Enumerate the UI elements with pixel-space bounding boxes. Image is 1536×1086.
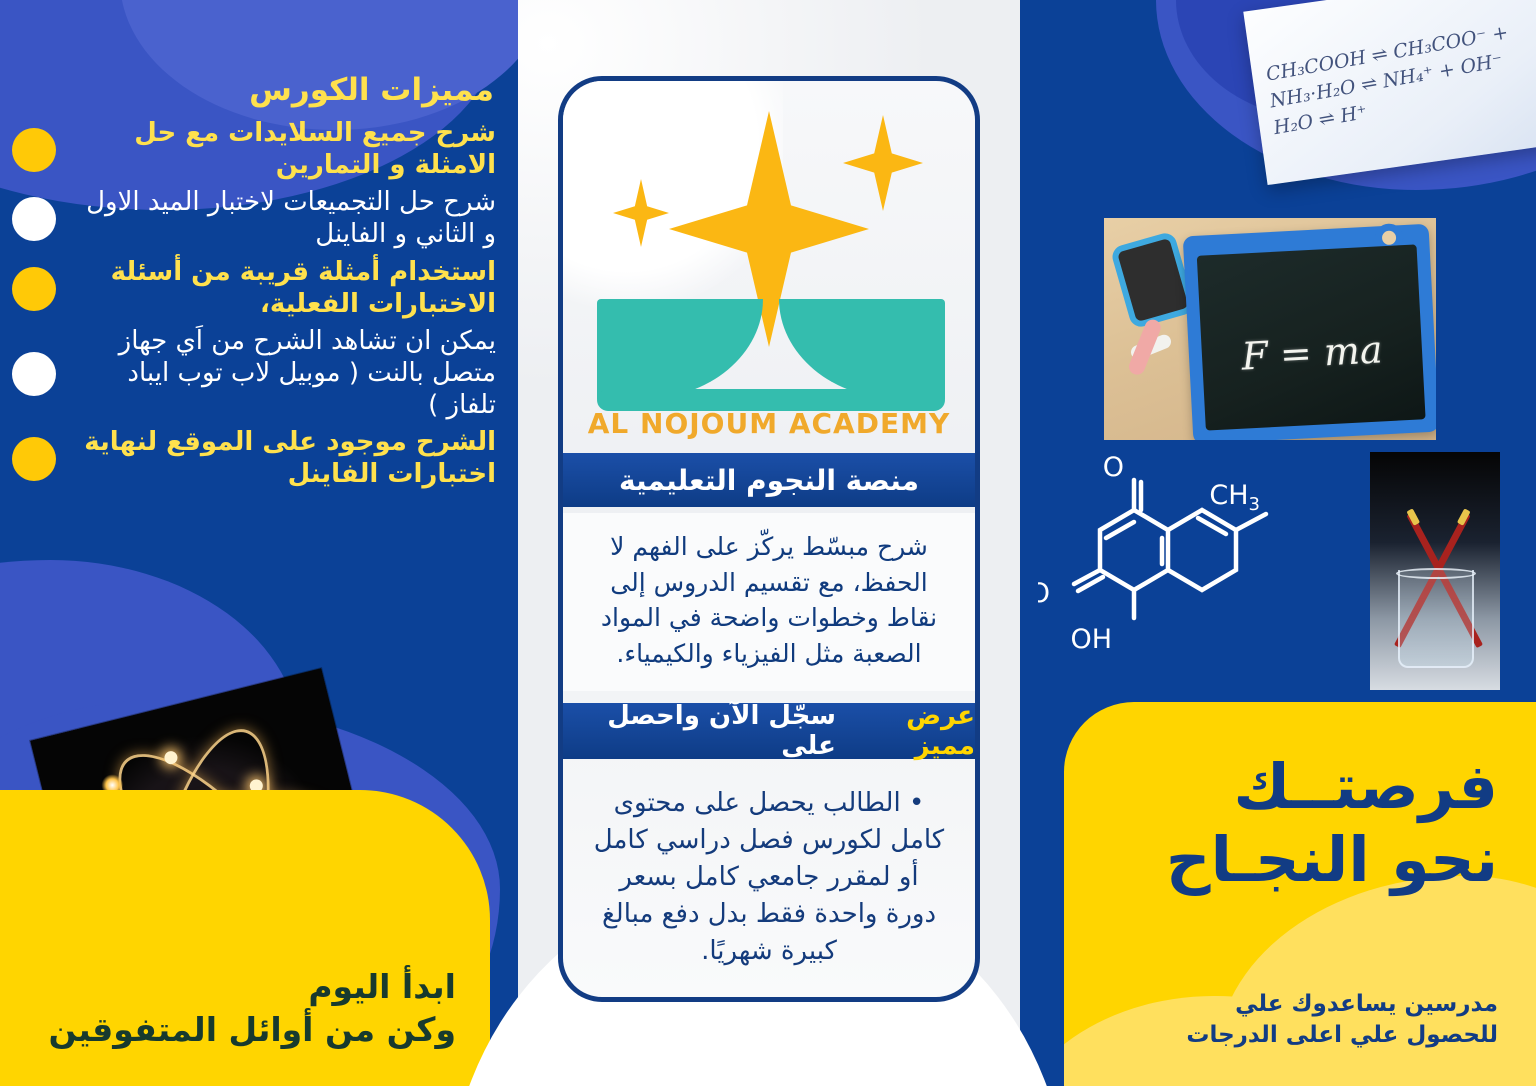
molecule-structure-svg: O O OH CH3	[1038, 452, 1302, 690]
bullet-dot-yellow-1	[12, 128, 56, 172]
brochure-canvas: مميزات الكورس شرح جميع السلايدات مع حل ا…	[0, 0, 1536, 1086]
bullet-dot-white-1	[12, 197, 56, 241]
left-cta-line-2: وكن من أوائل المتفوقين	[36, 1008, 456, 1052]
book-page-right	[779, 299, 945, 399]
left-cta-text: ابدأ اليوم وكن من أوائل المتفوقين	[36, 965, 456, 1052]
refraction-image	[1370, 452, 1500, 690]
chalkboard-frame: F = ma	[1183, 224, 1436, 440]
feature-text-4: يمكن ان تشاهد الشرح من اَي جهاز متصل بال…	[70, 326, 500, 421]
right-cta-panel: فرصتــك نحو النجـاح مدرسين يساعدوك علي ل…	[1064, 702, 1536, 1086]
offer-detail-text: • الطالب يحصل على محتوى كامل لكورس فصل د…	[563, 771, 975, 970]
bullet-dot-yellow-3	[12, 437, 56, 481]
platform-title-bar: منصة النجوم التعليمية	[563, 453, 975, 507]
chalkboard-equation-text: F = ma	[1201, 325, 1423, 380]
feature-text-3: استخدام أمثلة قريبة من أسئلة الاختبارات …	[70, 257, 500, 320]
left-cta-line-1: ابدأ اليوم	[36, 965, 456, 1009]
cta-headline: فرصتــك نحو النجـاح	[1098, 750, 1498, 896]
feature-text-2: شرح حل التجميعات لاختبار الميد الاول و ا…	[70, 187, 500, 250]
platform-description: شرح مبسّط يركّز على الفهم لا الحفظ، مع ت…	[563, 513, 975, 691]
feature-text-5: الشرح موجود على الموقع لنهاية اختبارات ا…	[70, 427, 500, 490]
molecule-label-top-oxygen: O	[1103, 452, 1124, 483]
right-panel: CH₃COOH ⇌ CH₃COO⁻ + NH₃·H₂O ⇌ NH₄⁺ + OH⁻…	[1020, 0, 1536, 1086]
feature-item: شرح جميع السلايدات مع حل الامثلة و التما…	[12, 118, 500, 181]
feature-text-1: شرح جميع السلايدات مع حل الامثلة و التما…	[70, 118, 500, 181]
chalkboard-image: F = ma	[1104, 218, 1436, 440]
left-panel: مميزات الكورس شرح جميع السلايدات مع حل ا…	[0, 0, 518, 1086]
feature-item: شرح حل التجميعات لاختبار الميد الاول و ا…	[12, 187, 500, 250]
feature-item: يمكن ان تشاهد الشرح من اَي جهاز متصل بال…	[12, 326, 500, 421]
feature-item: استخدام أمثلة قريبة من أسئلة الاختبارات …	[12, 257, 500, 320]
feature-item: الشرح موجود على الموقع لنهاية اختبارات ا…	[12, 427, 500, 490]
center-panel: AL NOJOUM ACADEMY منصة النجوم التعليمية …	[518, 0, 1020, 1086]
offer-bar[interactable]: عرض مميز سجّل الآن واحصل على	[563, 703, 975, 759]
offer-prefix-text: سجّل الآن واحصل على	[563, 701, 836, 761]
course-features-list: شرح جميع السلايدات مع حل الامثلة و التما…	[12, 118, 500, 497]
sparkle-icon-left	[613, 179, 669, 247]
academy-logo: AL NOJOUM ACADEMY	[563, 91, 975, 431]
molecule-label-methyl: CH3	[1209, 480, 1260, 515]
bullet-dot-yellow-2	[12, 267, 56, 311]
book-page-left	[597, 299, 763, 399]
cta-subtext-line-1: مدرسين يساعدوك علي	[1098, 989, 1498, 1021]
molecule-diagram: O O OH CH3	[1038, 452, 1302, 690]
molecule-label-hydroxyl: OH	[1070, 624, 1112, 655]
chemistry-note-image: CH₃COOH ⇌ CH₃COO⁻ + NH₃·H₂O ⇌ NH₄⁺ + OH⁻…	[1243, 0, 1536, 185]
offer-highlight-text: عرض مميز	[846, 701, 975, 761]
left-cta-panel: ابدأ اليوم وكن من أوائل المتفوقين	[0, 790, 490, 1086]
cta-subtext: مدرسين يساعدوك علي للحصول علي اعلى الدرج…	[1098, 989, 1498, 1052]
pencil-tip-left	[1406, 508, 1420, 525]
chalkboard-surface: F = ma	[1197, 244, 1426, 430]
sparkle-icon-right	[843, 115, 923, 211]
platform-card: AL NOJOUM ACADEMY منصة النجوم التعليمية …	[558, 76, 980, 1002]
cta-headline-line-1: فرصتــك	[1098, 750, 1498, 823]
water-glass	[1398, 570, 1474, 668]
cta-headline-line-2: نحو النجـاح	[1098, 823, 1498, 896]
open-book-icon	[597, 299, 945, 411]
course-features-heading: مميزات الكورس	[114, 72, 494, 109]
molecule-label-left-oxygen: O	[1038, 578, 1050, 609]
cta-subtext-line-2: للحصول علي اعلى الدرجات	[1098, 1020, 1498, 1052]
logo-wordmark: AL NOJOUM ACADEMY	[563, 407, 975, 440]
platform-title-text: منصة النجوم التعليمية	[619, 464, 919, 497]
bullet-dot-white-2	[12, 352, 56, 396]
water-glass-rim	[1396, 568, 1476, 579]
